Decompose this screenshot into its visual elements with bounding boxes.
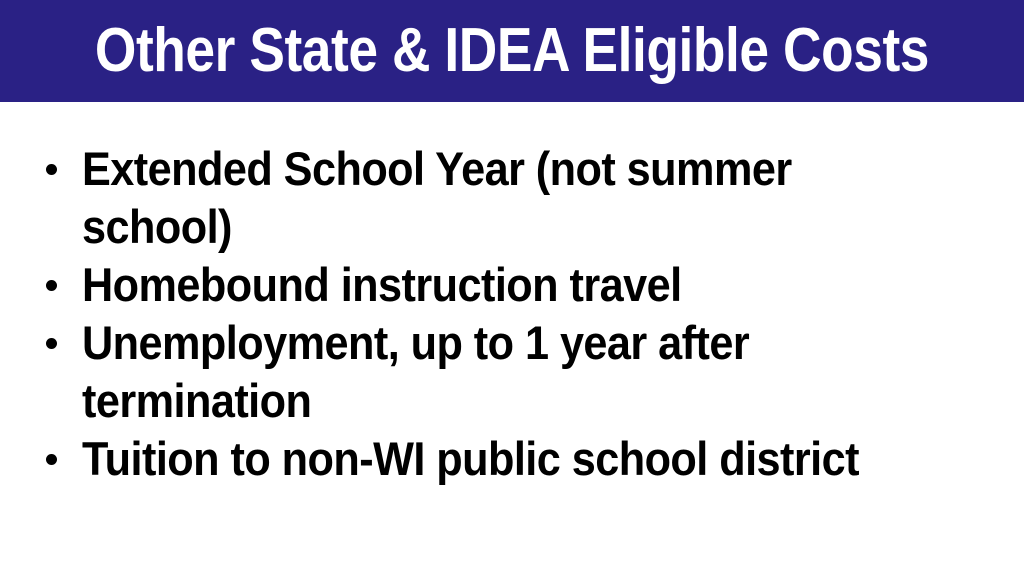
bullet-dot-icon (46, 338, 57, 349)
bullet-dot-icon (46, 454, 57, 465)
list-item: Tuition to non-WI public school district (38, 430, 998, 488)
page-title: Other State & IDEA Eligible Costs (95, 20, 929, 82)
list-item: Extended School Year (not summer school) (38, 140, 998, 256)
list-item: Unemployment, up to 1 year after termina… (38, 314, 998, 430)
slide: Other State & IDEA Eligible Costs Extend… (0, 0, 1024, 576)
list-item-label: Homebound instruction travel (82, 256, 682, 314)
title-banner: Other State & IDEA Eligible Costs (0, 0, 1024, 102)
slide-body: Extended School Year (not summer school)… (0, 102, 1024, 576)
bullet-list: Extended School Year (not summer school)… (38, 140, 998, 488)
list-item: Homebound instruction travel (38, 256, 998, 314)
list-item-label: Tuition to non-WI public school district (82, 430, 859, 488)
list-item-label: Extended School Year (not summer school) (82, 140, 925, 256)
bullet-dot-icon (46, 164, 57, 175)
bullet-dot-icon (46, 280, 57, 291)
list-item-label: Unemployment, up to 1 year after termina… (82, 314, 818, 430)
